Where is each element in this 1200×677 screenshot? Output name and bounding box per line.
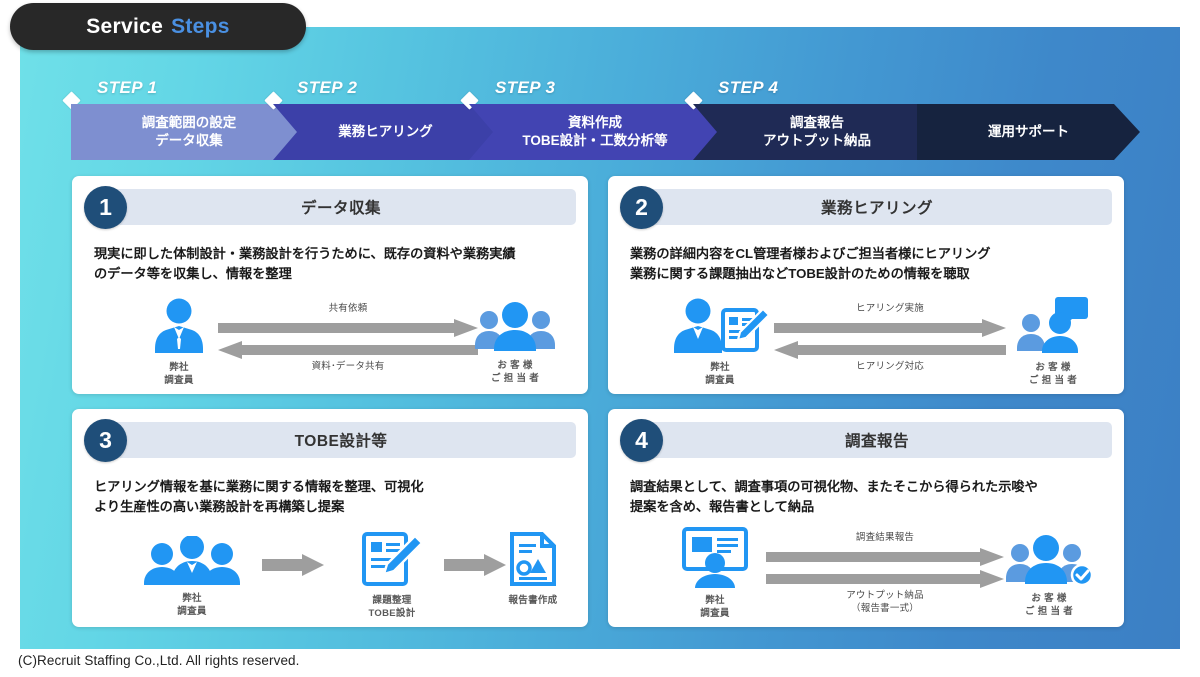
card-2-title: 業務ヒアリング bbox=[642, 189, 1112, 225]
card-3-desc-line-1: ヒアリング情報を基に業務に関する情報を整理、可視化 bbox=[94, 477, 566, 497]
card-3-node-1-caption-1: 弊社 bbox=[132, 593, 252, 606]
process-card-3[interactable]: TOBE設計等 3 ヒアリング情報を基に業務に関する情報を整理、可視化 より生産… bbox=[72, 409, 588, 627]
process-card-2[interactable]: 業務ヒアリング 2 業務の詳細内容をCL管理者様およびご担当者様にヒアリング 業… bbox=[608, 176, 1124, 394]
arrow-right-icon bbox=[766, 548, 1004, 566]
card-4-number-badge: 4 bbox=[620, 419, 663, 462]
card-2-arrow-forward: ヒアリング実施 bbox=[774, 303, 1006, 337]
card-4-desc-line-2: 提案を含め、報告書として納品 bbox=[630, 497, 1102, 517]
document-pencil-icon bbox=[360, 530, 424, 588]
team-group-icon bbox=[137, 536, 247, 586]
arrow-right-icon bbox=[218, 319, 478, 337]
card-1-arrow-backward-label: 資料･データ共有 bbox=[218, 361, 478, 373]
card-4-right-node: お 客 様 ご 担 当 者 bbox=[994, 534, 1104, 619]
card-2-arrow-forward-label: ヒアリング実施 bbox=[774, 303, 1006, 315]
card-2-right-caption-1: お 客 様 bbox=[998, 362, 1108, 375]
card-4-left-caption: 弊社 調査員 bbox=[660, 595, 770, 621]
card-3-node-3-caption: 報告書作成 bbox=[478, 595, 588, 608]
page-title-accent: Steps bbox=[171, 15, 230, 39]
card-2-left-caption-1: 弊社 bbox=[660, 362, 780, 375]
card-4-left-caption-1: 弊社 bbox=[660, 595, 770, 608]
process-card-4[interactable]: 調査報告 4 調査結果として、調査事項の可視化物、またそこから得られた示唆や 提… bbox=[608, 409, 1124, 627]
card-2-desc-line-1: 業務の詳細内容をCL管理者様およびご担当者様にヒアリング bbox=[630, 244, 1102, 264]
card-4-header: 調査報告 4 bbox=[620, 419, 1112, 463]
card-1-header: データ収集 1 bbox=[84, 186, 576, 230]
card-3-description: ヒアリング情報を基に業務に関する情報を整理、可視化 より生産性の高い業務設計を再… bbox=[94, 477, 566, 518]
step-label-4: STEP 4 bbox=[718, 78, 778, 98]
people-speech-icon bbox=[1013, 295, 1093, 355]
card-4-arrow-bottom: アウトプット納品 （報告書一式） bbox=[766, 570, 1004, 616]
step-chevron-3[interactable]: 資料作成 TOBE設計・工数分析等 bbox=[469, 104, 721, 160]
card-3-arrow-1 bbox=[262, 554, 324, 581]
card-2-right-caption-2: ご 担 当 者 bbox=[998, 375, 1108, 388]
card-2-left-caption-2: 調査員 bbox=[660, 375, 780, 388]
footer-copyright: (C)Recruit Staffing Co.,Ltd. All rights … bbox=[18, 653, 300, 668]
step-3-line-2: TOBE設計・工数分析等 bbox=[522, 132, 667, 150]
card-4-right-caption-1: お 客 様 bbox=[994, 593, 1104, 606]
arrow-right-icon bbox=[262, 554, 324, 576]
card-4-arrow-top-label: 調査結果報告 bbox=[766, 532, 1004, 544]
card-1-number-badge: 1 bbox=[84, 186, 127, 229]
presentation-person-icon bbox=[678, 526, 752, 588]
people-check-icon bbox=[1003, 534, 1095, 586]
card-2-left-caption: 弊社 調査員 bbox=[660, 362, 780, 388]
process-card-1[interactable]: データ収集 1 現実に即した体制設計・業務設計を行うために、既存の資料や業務実績… bbox=[72, 176, 588, 394]
card-3-header: TOBE設計等 3 bbox=[84, 419, 576, 463]
step-3-line-1: 資料作成 bbox=[522, 114, 667, 132]
card-4-arrow-top: 調査結果報告 bbox=[766, 532, 1004, 566]
card-3-node-1-caption-2: 調査員 bbox=[132, 606, 252, 619]
card-2-desc-line-2: 業務に関する課題抽出などTOBE設計のための情報を聴取 bbox=[630, 264, 1102, 284]
page-title-pill: Service Steps bbox=[10, 3, 306, 50]
step-chevron-1-text: 調査範囲の設定 データ収集 bbox=[142, 114, 237, 150]
card-3-node-2-caption: 課題整理 TOBE設計 bbox=[330, 595, 454, 621]
card-1-right-node: お 客 様 ご 担 当 者 bbox=[460, 301, 570, 386]
card-3-node-1-caption: 弊社 調査員 bbox=[132, 593, 252, 619]
card-2-arrow-backward: ヒアリング対応 bbox=[774, 341, 1006, 375]
card-3-node-2-caption-2: TOBE設計 bbox=[330, 608, 454, 621]
person-suit-icon bbox=[148, 297, 210, 355]
card-1-right-caption: お 客 様 ご 担 当 者 bbox=[460, 360, 570, 386]
card-1-left-caption-1: 弊社 bbox=[134, 362, 224, 375]
card-1-arrow-forward: 共有依頼 bbox=[218, 303, 478, 337]
step-5-line-1: 運用サポート bbox=[988, 123, 1069, 141]
step-chevron-4[interactable]: 調査報告 アウトプット納品 bbox=[693, 104, 941, 160]
card-2-description: 業務の詳細内容をCL管理者様およびご担当者様にヒアリング 業務に関する課題抽出な… bbox=[630, 244, 1102, 285]
card-1-arrow-forward-label: 共有依頼 bbox=[218, 303, 478, 315]
step-4-line-1: 調査報告 bbox=[763, 114, 871, 132]
step-4-line-2: アウトプット納品 bbox=[763, 132, 871, 150]
card-3-figure: 弊社 調査員 課題整理 TOBE設計 bbox=[72, 524, 588, 627]
card-1-desc-line-2: のデータ等を収集し、情報を整理 bbox=[94, 264, 566, 284]
card-3-node-3: 報告書作成 bbox=[478, 530, 588, 608]
card-3-title: TOBE設計等 bbox=[106, 422, 576, 458]
card-3-node-3-caption-1: 報告書作成 bbox=[478, 595, 588, 608]
step-chevron-2[interactable]: 業務ヒアリング bbox=[273, 104, 498, 160]
step-chevron-2-text: 業務ヒアリング bbox=[338, 123, 433, 141]
card-1-left-caption: 弊社 調査員 bbox=[134, 362, 224, 388]
step-chevron-5-text: 運用サポート bbox=[988, 123, 1069, 141]
step-label-3: STEP 3 bbox=[495, 78, 555, 98]
step-2-line-1: 業務ヒアリング bbox=[338, 123, 433, 141]
card-1-arrow-backward: 資料･データ共有 bbox=[218, 341, 478, 375]
card-1-figure: 弊社 調査員 共有依頼 資料･データ共有 bbox=[72, 291, 588, 394]
card-4-right-caption: お 客 様 ご 担 当 者 bbox=[994, 593, 1104, 619]
card-1-left-node: 弊社 調査員 bbox=[134, 297, 224, 388]
step-chevron-5[interactable]: 運用サポート bbox=[917, 104, 1140, 160]
arrow-right-icon bbox=[766, 570, 1004, 588]
card-2-right-node: お 客 様 ご 担 当 者 bbox=[998, 295, 1108, 388]
step-1-line-2: データ収集 bbox=[142, 132, 237, 150]
step-1-line-1: 調査範囲の設定 bbox=[142, 114, 237, 132]
card-1-desc-line-1: 現実に即した体制設計・業務設計を行うために、既存の資料や業務実績 bbox=[94, 244, 566, 264]
step-chevron-4-text: 調査報告 アウトプット納品 bbox=[763, 114, 871, 150]
step-chevron-1[interactable]: 調査範囲の設定 データ収集 bbox=[71, 104, 307, 160]
card-4-desc-line-1: 調査結果として、調査事項の可視化物、またそこから得られた示唆や bbox=[630, 477, 1102, 497]
card-4-left-caption-2: 調査員 bbox=[660, 608, 770, 621]
card-4-arrow-bottom-label-1: アウトプット納品 bbox=[766, 590, 1004, 602]
card-4-description: 調査結果として、調査事項の可視化物、またそこから得られた示唆や 提案を含め、報告… bbox=[630, 477, 1102, 518]
card-1-right-caption-1: お 客 様 bbox=[460, 360, 570, 373]
card-1-left-caption-2: 調査員 bbox=[134, 375, 224, 388]
page-title-primary: Service bbox=[86, 15, 163, 39]
people-group-icon bbox=[472, 301, 558, 353]
arrow-left-icon bbox=[774, 341, 1006, 359]
card-1-title: データ収集 bbox=[106, 189, 576, 225]
card-3-desc-line-2: より生産性の高い業務設計を再構築し提案 bbox=[94, 497, 566, 517]
card-3-node-1: 弊社 調査員 bbox=[132, 536, 252, 619]
step-label-1: STEP 1 bbox=[97, 78, 157, 98]
card-4-left-node: 弊社 調査員 bbox=[660, 526, 770, 621]
person-with-clipboard-icon bbox=[668, 297, 772, 355]
arrow-right-icon bbox=[774, 319, 1006, 337]
step-chevron-3-text: 資料作成 TOBE設計・工数分析等 bbox=[522, 114, 667, 150]
card-1-description: 現実に即した体制設計・業務設計を行うために、既存の資料や業務実績 のデータ等を収… bbox=[94, 244, 566, 285]
card-2-header: 業務ヒアリング 2 bbox=[620, 186, 1112, 230]
card-1-right-caption-2: ご 担 当 者 bbox=[460, 373, 570, 386]
card-2-figure: 弊社 調査員 ヒアリング実施 ヒアリング対応 bbox=[608, 291, 1124, 394]
step-flow: STEP 1 調査範囲の設定 データ収集 STEP 2 業務ヒアリング STEP… bbox=[55, 78, 1140, 160]
card-4-right-caption-2: ご 担 当 者 bbox=[994, 606, 1104, 619]
card-2-left-node: 弊社 調査員 bbox=[660, 297, 780, 388]
card-3-number-badge: 3 bbox=[84, 419, 127, 462]
card-2-arrow-backward-label: ヒアリング対応 bbox=[774, 361, 1006, 373]
card-4-arrow-bottom-label-2: （報告書一式） bbox=[766, 603, 1004, 615]
card-3-node-2: 課題整理 TOBE設計 bbox=[330, 530, 454, 621]
card-3-node-2-caption-1: 課題整理 bbox=[330, 595, 454, 608]
card-4-title: 調査報告 bbox=[642, 422, 1112, 458]
report-chart-icon bbox=[508, 530, 558, 588]
card-4-figure: 弊社 調査員 調査結果報告 アウトプット納品 （報告書一式） bbox=[608, 524, 1124, 627]
card-2-right-caption: お 客 様 ご 担 当 者 bbox=[998, 362, 1108, 388]
arrow-left-icon bbox=[218, 341, 478, 359]
card-2-number-badge: 2 bbox=[620, 186, 663, 229]
step-label-2: STEP 2 bbox=[297, 78, 357, 98]
